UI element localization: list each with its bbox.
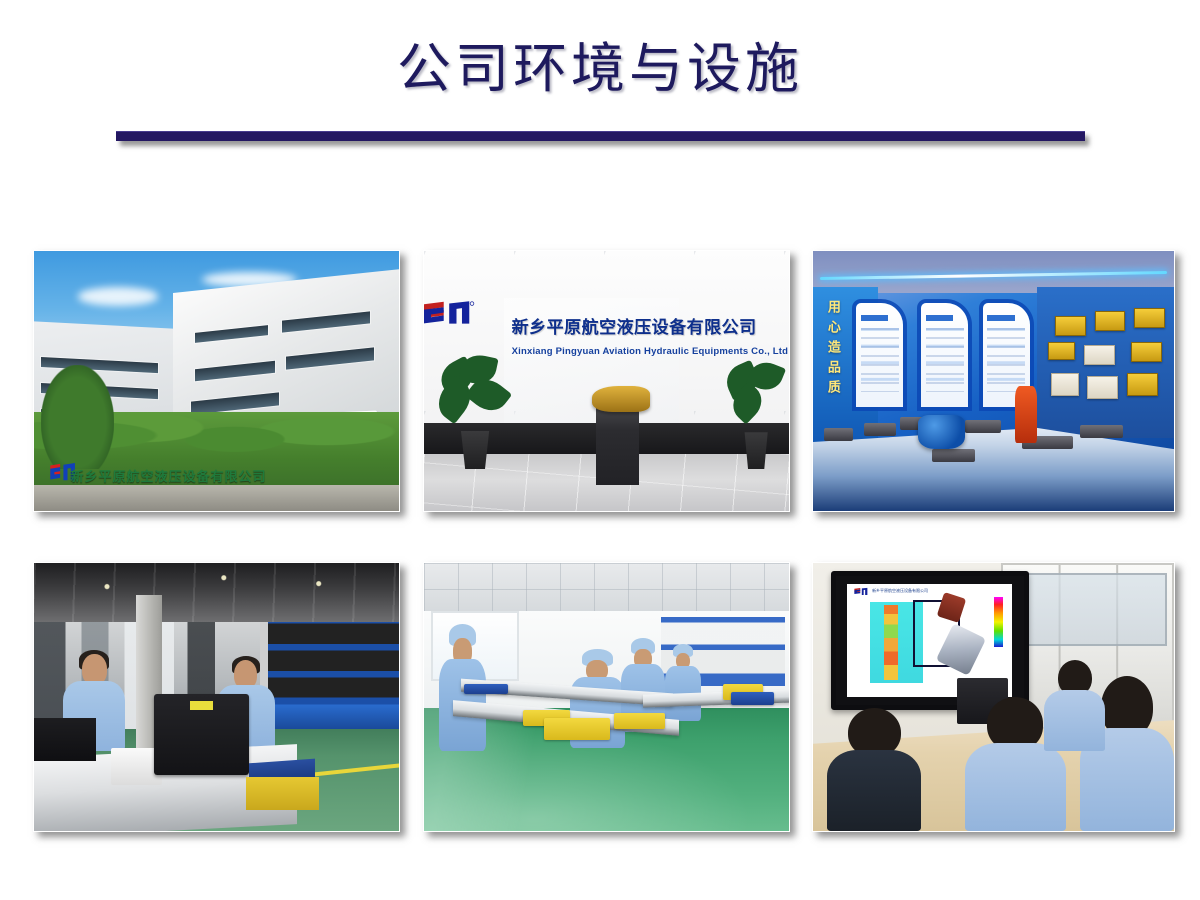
monitor — [154, 694, 249, 774]
display-panel — [856, 303, 903, 407]
lobby-scene: 新乡平原航空液压设备有限公司 Xinxiang Pingyuan Aviatio… — [424, 251, 789, 511]
certificate-frame — [1087, 376, 1118, 399]
photo-grid: 新乡平原航空液压设备有限公司 新乡平原航空液压设备有限公司 Xinxiang P… — [33, 250, 1173, 830]
factory-exterior-scene: 新乡平原航空液压设备有限公司 — [34, 251, 399, 511]
factory-sign-text: 新乡平原航空液压设备有限公司 — [71, 466, 267, 485]
color-scale-legend — [994, 597, 1002, 647]
parts-bin — [731, 692, 775, 705]
workshop-scene — [34, 563, 399, 831]
certificate-frame — [1051, 373, 1078, 396]
blue-storage-rack — [268, 617, 399, 730]
product-sample — [864, 423, 896, 436]
photo-technical-meeting[interactable]: 新乡平原航空液压设备有限公司 — [812, 562, 1175, 832]
assembly-scene — [424, 563, 789, 831]
potted-plant-left — [435, 355, 515, 469]
parts-bin — [464, 684, 508, 695]
photo-assembly-cleanroom[interactable] — [423, 562, 790, 832]
cloud — [78, 287, 158, 305]
potted-plant-right — [723, 360, 789, 469]
award-plaque — [1127, 373, 1158, 396]
lobby-company-name-en: Xinxiang Pingyuan Aviation Hydraulic Equ… — [512, 346, 789, 357]
ceiling-services — [34, 563, 399, 622]
company-logo-icon — [854, 587, 869, 597]
tree — [41, 365, 114, 469]
company-logo-icon — [424, 298, 475, 329]
certificate-frame — [1084, 345, 1115, 365]
product-sample — [965, 420, 1001, 433]
award-plaque — [1131, 342, 1162, 362]
ceiling-grid — [424, 563, 789, 611]
award-plaque — [1095, 311, 1126, 331]
worker — [665, 646, 702, 721]
product-sample — [824, 428, 853, 441]
laptop — [34, 718, 96, 761]
lobby-company-name-cn: 新乡平原航空液压设备有限公司 — [512, 313, 757, 338]
photo-factory-exterior[interactable]: 新乡平原航空液压设备有限公司 — [33, 250, 400, 512]
yellow-crate — [246, 777, 319, 809]
presenter — [1044, 660, 1105, 751]
golden-bull-statue — [592, 386, 650, 412]
display-panel — [921, 303, 968, 407]
red-accumulator-display — [1015, 386, 1037, 443]
hydraulic-valve-display — [918, 415, 965, 449]
award-plaque — [1048, 342, 1075, 360]
parts-bin — [544, 718, 610, 739]
showroom-scene: 用心造品质 — [813, 251, 1174, 511]
award-plaque — [1134, 308, 1165, 328]
screen-logo-caption: 新乡平原航空液压设备有限公司 — [872, 588, 928, 594]
product-sample — [932, 449, 975, 462]
photo-product-showroom[interactable]: 用心造品质 — [812, 250, 1175, 512]
showroom-slogan: 用心造品质 — [824, 300, 843, 400]
title-divider-rule — [116, 131, 1085, 141]
award-plaque — [1055, 316, 1086, 336]
statue-pedestal — [596, 407, 640, 485]
photo-company-lobby[interactable]: 新乡平原航空液压设备有限公司 Xinxiang Pingyuan Aviatio… — [423, 250, 790, 512]
attendee — [827, 708, 921, 831]
meeting-scene: 新乡平原航空液压设备有限公司 — [813, 563, 1174, 831]
photo-machining-workshop[interactable] — [33, 562, 400, 832]
ground-road — [34, 485, 399, 511]
page-title: 公司环境与设施 — [0, 40, 1200, 99]
parts-bin — [614, 713, 665, 729]
product-sample — [1080, 425, 1123, 438]
